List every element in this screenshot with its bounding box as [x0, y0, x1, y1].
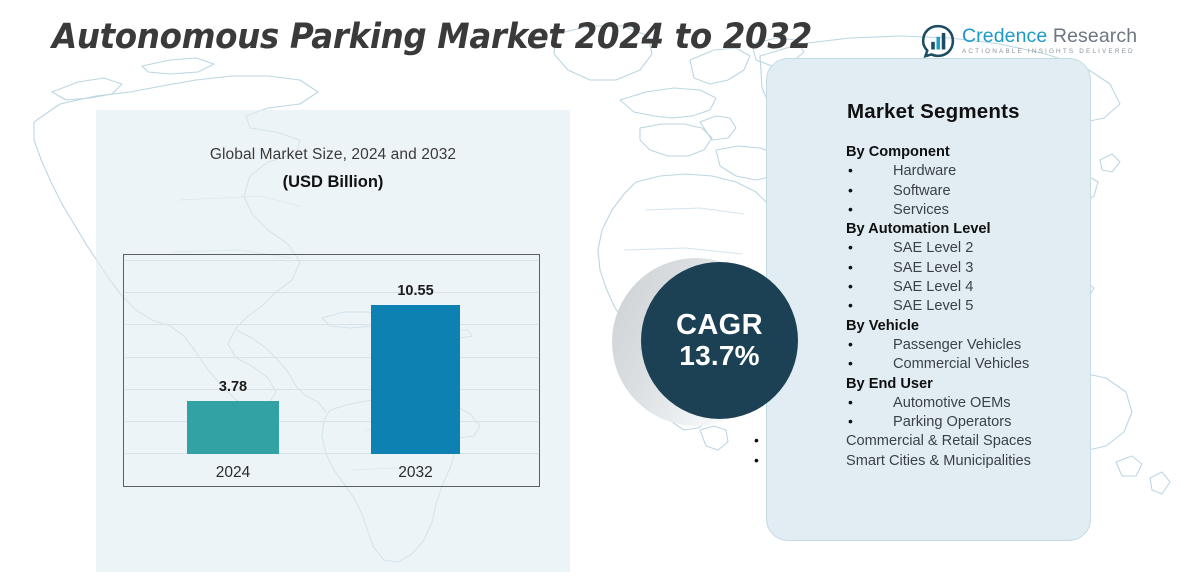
- credence-research-logo[interactable]: Credence Research Actionable Insights De…: [921, 24, 1137, 58]
- cagr-label: CAGR: [676, 310, 763, 340]
- segment-item[interactable]: •Software: [846, 182, 1078, 201]
- bullet-icon: •: [848, 296, 853, 315]
- segment-item-label: Automotive OEMs: [893, 395, 1011, 411]
- segment-item-label: SAE Level 5: [893, 298, 973, 314]
- segment-item-label: Hardware: [893, 163, 956, 179]
- bar-value-2032: 10.55: [356, 283, 476, 299]
- segment-item[interactable]: •Automotive OEMs: [846, 394, 1078, 413]
- segment-item[interactable]: •Commercial & Retail Spaces: [799, 432, 1113, 451]
- segment-item[interactable]: •Commercial Vehicles: [846, 355, 1078, 374]
- segment-group-title: By Vehicle: [846, 317, 1078, 336]
- chart-heading-line1: Global Market Size, 2024 and 2032: [96, 146, 570, 164]
- segment-item-label: SAE Level 2: [893, 240, 973, 256]
- chart-heading: Global Market Size, 2024 and 2032 (USD B…: [96, 146, 570, 192]
- logo-word-research: Research: [1053, 25, 1137, 47]
- chart-gridline: [125, 324, 538, 325]
- cagr-badge: CAGR 13.7%: [612, 258, 812, 436]
- segment-item[interactable]: •SAE Level 4: [846, 278, 1078, 297]
- bar-2024: [187, 401, 279, 454]
- logo-text: Credence Research Actionable Insights De…: [962, 27, 1137, 56]
- logo-tagline: Actionable Insights Delivered: [962, 49, 1137, 55]
- bar-value-2024: 3.78: [173, 379, 293, 395]
- page-title: Autonomous Parking Market 2024 to 2032: [52, 17, 812, 57]
- segment-item[interactable]: •Services: [846, 201, 1078, 220]
- market-segments-list: By Component•Hardware•Software•ServicesB…: [846, 143, 1078, 471]
- chart-gridline: [125, 260, 538, 261]
- segment-item-label: Commercial Vehicles: [893, 356, 1029, 372]
- segment-item-label: SAE Level 3: [893, 260, 973, 276]
- bar-chart-plot-area: 3.78 10.55 2024 2032: [123, 254, 540, 487]
- segment-item[interactable]: •SAE Level 3: [846, 259, 1078, 278]
- segment-item[interactable]: •SAE Level 2: [846, 239, 1078, 258]
- chart-heading-line2: (USD Billion): [96, 173, 570, 192]
- segment-item-label: Passenger Vehicles: [893, 337, 1021, 353]
- bar-2032: [371, 305, 460, 454]
- segment-item-label: Services: [893, 202, 949, 218]
- cagr-circle: CAGR 13.7%: [641, 262, 798, 419]
- credence-bar-chart-bubble-icon: [921, 24, 955, 58]
- bar-category-2024: 2024: [173, 464, 293, 482]
- bar-category-2032: 2032: [356, 464, 476, 482]
- bullet-icon: •: [848, 277, 853, 296]
- bullet-icon: •: [848, 335, 853, 354]
- market-segments-title: Market Segments: [847, 100, 1020, 124]
- segment-item-label: Smart Cities & Municipalities: [846, 453, 1031, 469]
- logo-wordmark: Credence Research: [962, 27, 1137, 47]
- segment-item-label: SAE Level 4: [893, 279, 973, 295]
- chart-gridline: [125, 292, 538, 293]
- segment-item-label: Parking Operators: [893, 414, 1011, 430]
- bullet-icon: •: [848, 200, 853, 219]
- segment-item[interactable]: •Parking Operators: [846, 413, 1078, 432]
- logo-word-credence: Credence: [962, 25, 1047, 47]
- market-segments-panel: Market Segments By Component•Hardware•So…: [766, 58, 1091, 541]
- bullet-icon: •: [848, 354, 853, 373]
- segment-group-title: By End User: [846, 375, 1078, 394]
- segment-item[interactable]: •SAE Level 5: [846, 297, 1078, 316]
- cagr-value: 13.7%: [679, 340, 759, 371]
- bullet-icon: •: [848, 412, 853, 431]
- segment-group-title: By Automation Level: [846, 220, 1078, 239]
- segment-item[interactable]: •Passenger Vehicles: [846, 336, 1078, 355]
- segment-item[interactable]: •Hardware: [846, 162, 1078, 181]
- chart-gridline: [125, 357, 538, 358]
- segment-item[interactable]: •Smart Cities & Municipalities: [799, 452, 1113, 471]
- bullet-icon: •: [848, 238, 853, 257]
- bullet-icon: •: [848, 258, 853, 277]
- segment-group-title: By Component: [846, 143, 1078, 162]
- market-size-chart-panel: Global Market Size, 2024 and 2032 (USD B…: [96, 110, 570, 572]
- bullet-icon: •: [848, 161, 853, 180]
- bullet-icon: •: [848, 181, 853, 200]
- segment-item-label: Software: [893, 183, 951, 199]
- segment-item-label: Commercial & Retail Spaces: [846, 433, 1032, 449]
- bullet-icon: •: [848, 393, 853, 412]
